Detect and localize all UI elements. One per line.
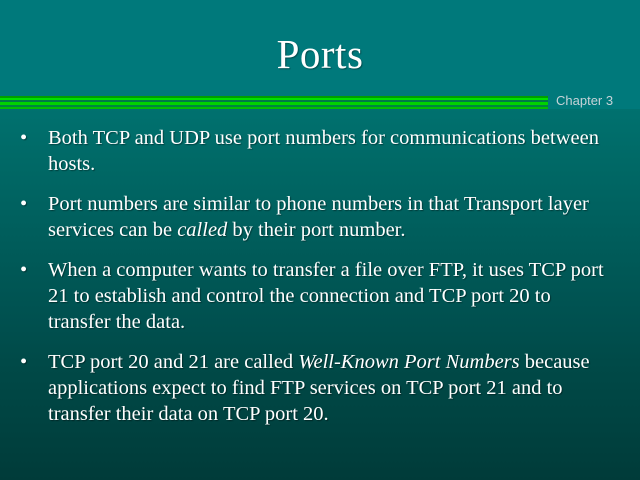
list-item: •When a computer wants to transfer a fil… bbox=[0, 257, 640, 335]
presentation-slide: Ports Chapter 3 •Both TCP and UDP use po… bbox=[0, 0, 640, 480]
emphasis-text: Well-Known Port Numbers bbox=[298, 351, 519, 373]
emphasis-text: called bbox=[177, 219, 227, 241]
list-item: •Both TCP and UDP use port numbers for c… bbox=[0, 125, 640, 177]
plain-text: by their port number. bbox=[227, 219, 405, 241]
list-item-text: When a computer wants to transfer a file… bbox=[48, 259, 604, 333]
bullet-list: •Both TCP and UDP use port numbers for c… bbox=[0, 125, 640, 441]
list-item-text: Both TCP and UDP use port numbers for co… bbox=[48, 127, 599, 175]
plain-text: When a computer wants to transfer a file… bbox=[48, 259, 604, 333]
list-item-text: TCP port 20 and 21 are called Well-Known… bbox=[48, 351, 590, 425]
page-title: Ports bbox=[0, 30, 640, 78]
list-item: •Port numbers are similar to phone numbe… bbox=[0, 191, 640, 243]
plain-text: Both TCP and UDP use port numbers for co… bbox=[48, 127, 599, 175]
slide-header: Ports bbox=[0, 0, 640, 97]
plain-text: TCP port 20 and 21 are called bbox=[48, 351, 298, 373]
chapter-label: Chapter 3 bbox=[556, 92, 613, 110]
green-rule-divider bbox=[0, 96, 548, 109]
bullet-marker-icon: • bbox=[20, 125, 34, 151]
list-item-text: Port numbers are similar to phone number… bbox=[48, 193, 589, 241]
bullet-marker-icon: • bbox=[20, 191, 34, 217]
bullet-marker-icon: • bbox=[20, 257, 34, 283]
list-item: •TCP port 20 and 21 are called Well-Know… bbox=[0, 349, 640, 427]
slide-body: •Both TCP and UDP use port numbers for c… bbox=[0, 109, 640, 480]
bullet-marker-icon: • bbox=[20, 349, 34, 375]
